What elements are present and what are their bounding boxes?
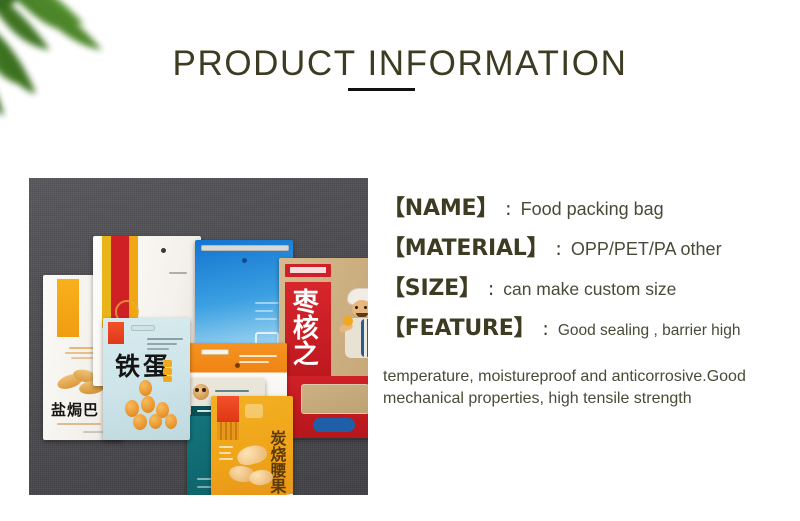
spec-row-feature: 【FEATURE】 : Good sealing , barrier high (383, 310, 793, 342)
spec-row-size: 【SIZE】 : can make custom size (383, 270, 793, 302)
page-title: PRODUCT INFORMATION (0, 44, 800, 84)
spec-colon-material: : (548, 238, 570, 260)
spec-value-feature: Good sealing , barrier high (558, 322, 741, 340)
spec-value-material: OPP/PET/PA other (571, 239, 722, 260)
spec-row-material: 【MATERIAL】 : OPP/PET/PA other (383, 230, 793, 262)
spec-value-size: can make custom size (503, 279, 676, 300)
spec-label-feature: 【FEATURE】 (383, 310, 535, 342)
bag-golden-cashew: 炭烧腰果 (211, 396, 293, 495)
spec-label-material: 【MATERIAL】 (383, 230, 548, 262)
spec-colon-name: : (498, 198, 520, 220)
spec-value-name: Food packing bag (521, 199, 664, 220)
bag-light-blue-egg: 铁蛋 (103, 318, 190, 440)
spec-list: 【NAME】 : Food packing bag 【MATERIAL】 : O… (383, 190, 793, 350)
spec-label-size: 【SIZE】 (383, 270, 481, 302)
title-underline (348, 88, 415, 91)
spec-row-name: 【NAME】 : Food packing bag (383, 190, 793, 222)
spec-colon-feature: : (535, 318, 557, 340)
product-photo: 盐焗巴 枣核之 (29, 178, 368, 495)
feature-paragraph: temperature, moistureproof and anticorro… (383, 366, 789, 410)
spec-label-name: 【NAME】 (383, 190, 498, 222)
spec-colon-size: : (481, 278, 503, 300)
